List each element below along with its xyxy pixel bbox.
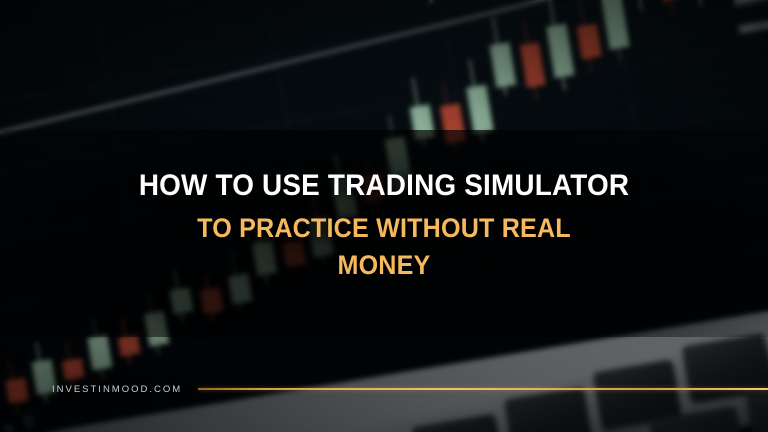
headline-line-1: HOW TO USE TRADING SIMULATOR (27, 166, 741, 205)
site-watermark: INVESTINMOOD.COM (52, 384, 182, 395)
gold-divider (198, 388, 768, 390)
overlay-content: HOW TO USE TRADING SIMULATOR TO PRACTICE… (0, 0, 768, 432)
headline-block: HOW TO USE TRADING SIMULATOR TO PRACTICE… (0, 166, 768, 283)
thumbnail-canvas: F4 % 6 (0, 0, 768, 432)
headline-line-2: TO PRACTICE WITHOUT REAL (27, 211, 741, 246)
footer-bar: INVESTINMOOD.COM (0, 380, 768, 398)
headline-line-3: MONEY (27, 248, 741, 283)
